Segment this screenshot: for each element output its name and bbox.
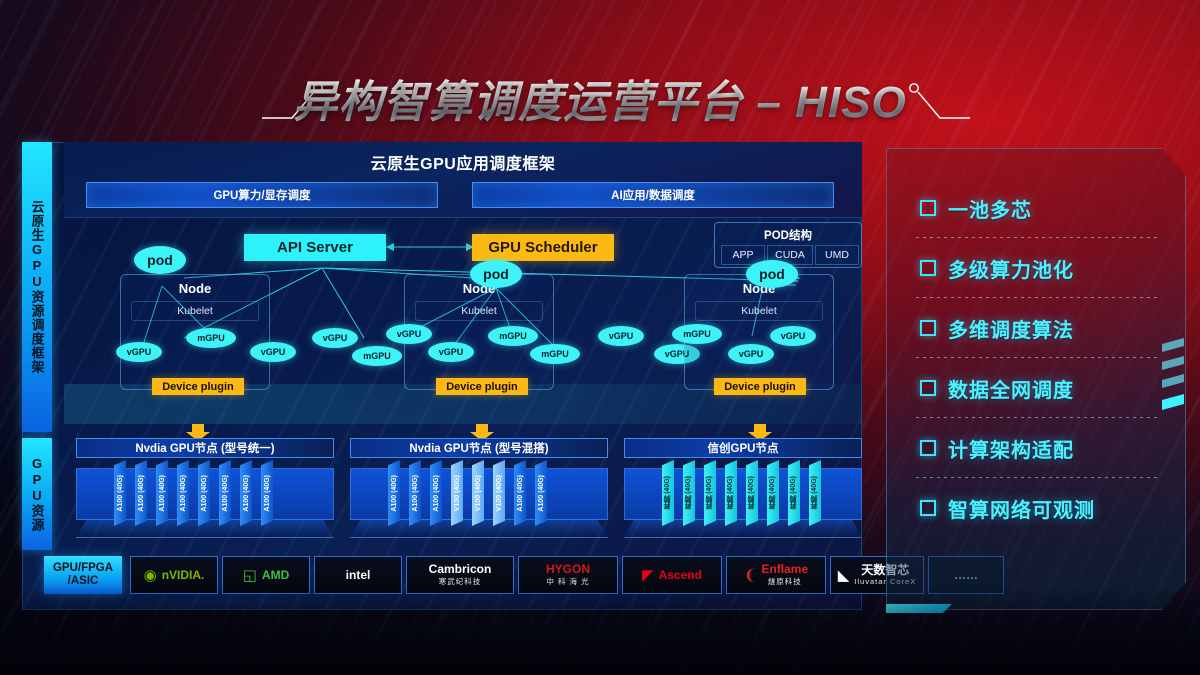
checkbox-square-icon bbox=[920, 200, 936, 216]
gpu-card-label: A100 (40G) bbox=[159, 475, 166, 512]
feature-label: 计算架构适配 bbox=[948, 434, 1074, 463]
feature-label: 多维调度算法 bbox=[948, 314, 1074, 343]
vendor-name: Ascend bbox=[659, 569, 702, 582]
feature-label: 一池多芯 bbox=[948, 194, 1032, 223]
gpu-card[interactable]: A100 (40G) bbox=[261, 460, 273, 526]
gpu-rack-3 bbox=[624, 468, 862, 520]
vgpu-2-2[interactable]: vGPU bbox=[428, 342, 474, 362]
kubelet-3: Kubelet bbox=[695, 301, 823, 321]
mgpu-2-2[interactable]: mGPU bbox=[530, 344, 580, 364]
gpu-card[interactable]: 昇腾 (40G) bbox=[704, 460, 716, 526]
gpu-card-label: A100 (40G) bbox=[517, 475, 524, 512]
gpu-card[interactable]: A100 (40G) bbox=[198, 460, 210, 526]
framework-header-title: 云原生GPU应用调度框架 bbox=[64, 150, 862, 174]
slide-title-container: 异构智算调度运营平台 – HISO bbox=[0, 62, 1200, 134]
pod-structure-title: POD结构 bbox=[715, 227, 861, 243]
sidebar-tab-gpu-resource: GPU资源 bbox=[22, 438, 52, 550]
checkbox-square-icon bbox=[920, 500, 936, 516]
slide-canvas: 异构智算调度运营平台 – HISO 云原生GPU资源调度框架 GPU资源 云原生… bbox=[0, 0, 1200, 675]
mgpu-2-1[interactable]: mGPU bbox=[488, 326, 538, 346]
gpu-card[interactable]: A100 (40G) bbox=[156, 460, 168, 526]
vgpu-2-1[interactable]: vGPU bbox=[386, 324, 432, 344]
checkbox-square-icon bbox=[920, 260, 936, 276]
gpu-card[interactable]: 昇腾 (40G) bbox=[725, 460, 737, 526]
gpu-scheduler-box[interactable]: GPU Scheduler bbox=[472, 234, 614, 261]
vendor-name: Cambricon bbox=[429, 563, 492, 576]
sidebar-tab-framework: 云原生GPU资源调度框架 bbox=[22, 142, 52, 432]
gpu-card[interactable]: A100 (40G) bbox=[430, 460, 442, 526]
feature-item[interactable]: 一池多芯 bbox=[886, 178, 1186, 238]
feature-item[interactable]: 多维调度算法 bbox=[886, 298, 1186, 358]
pod-cell-umd: UMD bbox=[815, 245, 859, 265]
gpu-card-label: A100 (40G) bbox=[243, 475, 250, 512]
gpu-card[interactable]: 昇腾 (40G) bbox=[809, 460, 821, 526]
vendor-name: nVIDIA. bbox=[162, 569, 205, 582]
gpu-card-label: A100 (40G) bbox=[412, 475, 419, 512]
gpu-card[interactable]: 昇腾 (40G) bbox=[746, 460, 758, 526]
gpu-card-label: A100 (40G) bbox=[117, 475, 124, 512]
gpu-card-label: V100 (40G) bbox=[496, 475, 503, 511]
gpu-card-label: 昇腾 (40G) bbox=[726, 476, 736, 510]
gpu-card-label: A100 (40G) bbox=[201, 475, 208, 512]
gpu-card[interactable]: 昇腾 (40G) bbox=[683, 460, 695, 526]
feature-item[interactable]: 数据全网调度 bbox=[886, 358, 1186, 418]
vgpu-3-2[interactable]: vGPU bbox=[770, 326, 816, 346]
gpu-card-label: A100 (40G) bbox=[138, 475, 145, 512]
gpu-resource-section: Nvdia GPU节点 (型号统一) A100 (40G)A100 (40G)A… bbox=[64, 438, 862, 550]
checkbox-square-icon bbox=[920, 440, 936, 456]
kubelet-2: Kubelet bbox=[415, 301, 543, 321]
gpu-card[interactable]: A100 (40G) bbox=[114, 460, 126, 526]
vendor-tag-line1: GPU/FPGA bbox=[53, 562, 113, 575]
architecture-diagram: 云原生GPU资源调度框架 GPU资源 云原生GPU应用调度框架 GPU算力/显存… bbox=[22, 142, 862, 610]
capsule-compute-scheduling: GPU算力/显存调度 bbox=[86, 182, 438, 208]
gpu-card[interactable]: 昇腾 (40G) bbox=[788, 460, 800, 526]
device-plugin-2[interactable]: Device plugin bbox=[436, 378, 528, 395]
checkbox-square-icon bbox=[920, 380, 936, 396]
feature-panel: 一池多芯多级算力池化多维调度算法数据全网调度计算架构适配智算网络可观测 bbox=[886, 148, 1186, 610]
feature-label: 多级算力池化 bbox=[948, 254, 1074, 283]
gpu-group-3: 信创GPU节点 昇腾 (40G)昇腾 (40G)昇腾 (40G)昇腾 (40G)… bbox=[624, 438, 862, 550]
feature-list: 一池多芯多级算力池化多维调度算法数据全网调度计算架构适配智算网络可观测 bbox=[886, 178, 1186, 538]
gpu-card[interactable]: V100 (40G) bbox=[493, 460, 505, 526]
feature-label: 数据全网调度 bbox=[948, 374, 1074, 403]
gpu-card[interactable]: A100 (40G) bbox=[535, 460, 547, 526]
pod-node-3[interactable]: pod bbox=[746, 260, 798, 288]
page-title: 异构智算调度运营平台 – HISO bbox=[277, 66, 923, 130]
gpu-card[interactable]: A100 (40G) bbox=[219, 460, 231, 526]
gpu-card-label: V100 (40G) bbox=[454, 475, 461, 511]
gpu-card-label: A100 (40G) bbox=[433, 475, 440, 512]
framework-header: 云原生GPU应用调度框架 GPU算力/显存调度 AI应用/数据调度 bbox=[64, 142, 862, 218]
gpu-card-label: 昇腾 (40G) bbox=[663, 476, 673, 510]
ascend-icon: ◤ bbox=[642, 566, 654, 584]
feature-item[interactable]: 智算网络可观测 bbox=[886, 478, 1186, 538]
mgpu-free-1[interactable]: mGPU bbox=[352, 346, 402, 366]
gpu-card[interactable]: A100 (40G) bbox=[388, 460, 400, 526]
feature-item[interactable]: 计算架构适配 bbox=[886, 418, 1186, 478]
gpu-card[interactable]: A100 (40G) bbox=[135, 460, 147, 526]
gpu-card-label: 昇腾 (40G) bbox=[684, 476, 694, 510]
vgpu-1-2[interactable]: vGPU bbox=[250, 342, 296, 362]
gpu-card[interactable]: 昇腾 (40G) bbox=[767, 460, 779, 526]
gpu-card-label: 昇腾 (40G) bbox=[810, 476, 820, 510]
gpu-card[interactable]: 昇腾 (40G) bbox=[662, 460, 674, 526]
checkbox-square-icon bbox=[920, 320, 936, 336]
enflame-icon: ❨ bbox=[744, 566, 757, 584]
framework-body: API Server GPU Scheduler POD结构 APP CUDA … bbox=[64, 218, 862, 432]
iluvatar-icon: ◣ bbox=[838, 566, 850, 584]
kubelet-1: Kubelet bbox=[131, 301, 259, 321]
vendor-name: intel bbox=[346, 569, 371, 582]
gpu-card-label: A100 (40G) bbox=[222, 475, 229, 512]
background-bottom-fade bbox=[0, 585, 1200, 675]
gpu-card-label: 昇腾 (40G) bbox=[789, 476, 799, 510]
gpu-card-label: A100 (40G) bbox=[538, 475, 545, 512]
gpu-card[interactable]: A100 (40G) bbox=[240, 460, 252, 526]
pod-structure-box: POD结构 APP CUDA UMD bbox=[714, 222, 862, 268]
gpu-group-title-2: Nvdia GPU节点 (型号混搭) bbox=[350, 438, 608, 458]
node-title-1: Node bbox=[121, 281, 269, 296]
vendor-name: AMD bbox=[262, 569, 289, 582]
vgpu-1-1[interactable]: vGPU bbox=[116, 342, 162, 362]
gpu-card-label: A100 (40G) bbox=[391, 475, 398, 512]
gpu-card-label: V100 (40G) bbox=[475, 475, 482, 511]
pod-node-1[interactable]: pod bbox=[134, 246, 186, 274]
vgpu-free-1[interactable]: vGPU bbox=[312, 328, 358, 348]
gpu-card-label: 昇腾 (40G) bbox=[768, 476, 778, 510]
mgpu-1-1[interactable]: mGPU bbox=[186, 328, 236, 348]
device-plugin-1[interactable]: Device plugin bbox=[152, 378, 244, 395]
gpu-card[interactable]: V100 (40G) bbox=[472, 460, 484, 526]
device-plugin-3[interactable]: Device plugin bbox=[714, 378, 806, 395]
gpu-card[interactable]: A100 (40G) bbox=[514, 460, 526, 526]
vendor-name: HYGON bbox=[546, 563, 590, 576]
gpu-group-2: Nvdia GPU节点 (型号混搭) A100 (40G)A100 (40G)A… bbox=[350, 438, 608, 550]
capsule-ai-data-scheduling: AI应用/数据调度 bbox=[472, 182, 834, 208]
gpu-card-label: A100 (40G) bbox=[264, 475, 271, 512]
feature-label: 智算网络可观测 bbox=[948, 494, 1095, 523]
nvidia-icon: ◉ bbox=[144, 566, 157, 584]
gpu-group-1: Nvdia GPU节点 (型号统一) A100 (40G)A100 (40G)A… bbox=[76, 438, 334, 550]
api-server-box[interactable]: API Server bbox=[244, 234, 386, 261]
gpu-rack-base-3 bbox=[624, 520, 862, 538]
gpu-group-title-3: 信创GPU节点 bbox=[624, 438, 862, 458]
vgpu-3-1[interactable]: vGPU bbox=[728, 344, 774, 364]
diagram-content: 云原生GPU应用调度框架 GPU算力/显存调度 AI应用/数据调度 bbox=[64, 142, 862, 610]
amd-icon: ◱ bbox=[243, 566, 257, 584]
gpu-card-label: 昇腾 (40G) bbox=[747, 476, 757, 510]
gpu-card[interactable]: A100 (40G) bbox=[409, 460, 421, 526]
gpu-group-title-1: Nvdia GPU节点 (型号统一) bbox=[76, 438, 334, 458]
gpu-card[interactable]: A100 (40G) bbox=[177, 460, 189, 526]
pod-node-2[interactable]: pod bbox=[470, 260, 522, 288]
gpu-card-label: 昇腾 (40G) bbox=[705, 476, 715, 510]
gpu-card[interactable]: V100 (40G) bbox=[451, 460, 463, 526]
mgpu-3-1[interactable]: mGPU bbox=[672, 324, 722, 344]
feature-item[interactable]: 多级算力池化 bbox=[886, 238, 1186, 298]
vendor-name: Enflame bbox=[761, 563, 808, 576]
gpu-card-label: A100 (40G) bbox=[180, 475, 187, 512]
vgpu-free-2[interactable]: vGPU bbox=[598, 326, 644, 346]
